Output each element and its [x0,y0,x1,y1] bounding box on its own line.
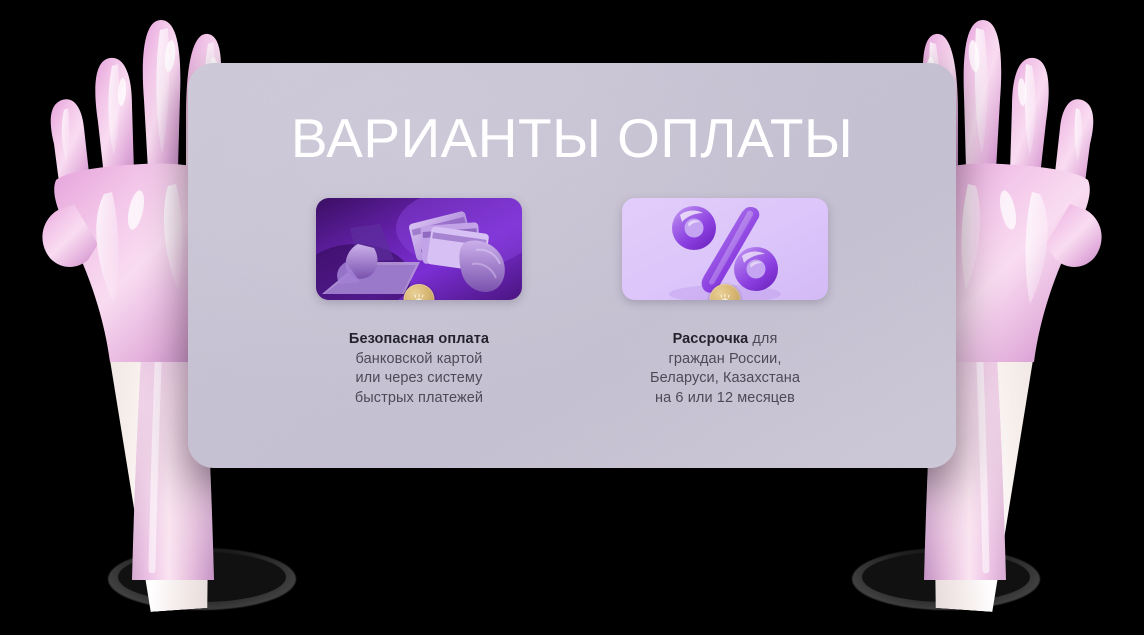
caption-line-2: или через систему [316,369,522,389]
caption-line-2: Беларуси, Казахстана [622,369,828,389]
thumbnail-payment-cards[interactable]: 0000 VISA [316,198,522,300]
caption-line-3: быстрых платежей [316,389,522,409]
scene: ВАРИАНТЫ ОПЛАТЫ [0,0,1144,635]
caption-line-1: банковской картой [316,350,522,370]
caption-line-1: граждан России, [622,350,828,370]
option-title-suffix: для [748,331,777,347]
option-secure-payment[interactable]: 0000 VISA [316,198,522,409]
payment-options-card: ВАРИАНТЫ ОПЛАТЫ [188,63,956,468]
caption-line-3: на 6 или 12 месяцев [622,389,828,409]
option-caption-installment: Рассрочка для граждан России, Беларуси, … [622,330,828,409]
thumbnail-percent-sign[interactable] [622,198,828,300]
payment-options-row: 0000 VISA [248,198,896,409]
option-title-installment: Рассрочка [673,331,749,347]
page-title: ВАРИАНТЫ ОПЛАТЫ [188,111,956,166]
option-title-secure-payment: Безопасная оплата [349,331,489,347]
option-installment[interactable]: Рассрочка для граждан России, Беларуси, … [622,198,828,409]
option-caption-secure-payment: Безопасная оплата банковской картой или … [316,330,522,409]
